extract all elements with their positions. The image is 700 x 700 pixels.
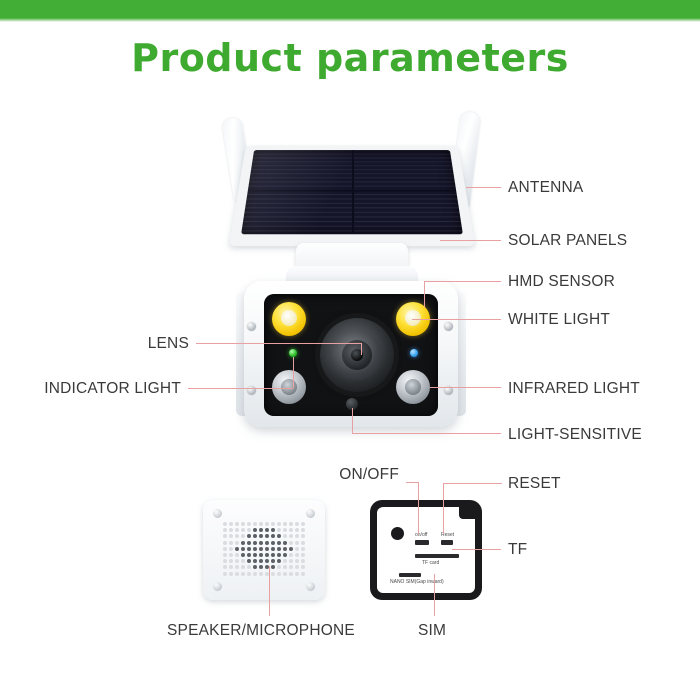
label-on-off: ON/OFF: [275, 466, 399, 484]
speaker-hole: [289, 541, 293, 545]
leader-lens: [196, 343, 361, 344]
leader-reset: [443, 483, 502, 484]
leader-tf: [452, 549, 501, 550]
speaker-hole: [277, 559, 281, 563]
rear-onoff-text: on/off: [415, 532, 427, 538]
infrared-led-left: [272, 370, 306, 404]
speaker-hole: [289, 572, 293, 576]
speaker-hole: [259, 547, 263, 551]
speaker-hole: [253, 553, 257, 557]
speaker-hole: [247, 565, 251, 569]
speaker-hole: [247, 528, 251, 532]
label-reset: RESET: [508, 475, 561, 493]
leader-on-off-drop: [418, 482, 419, 534]
speaker-hole: [277, 553, 281, 557]
leader-light-sensitive: [352, 433, 501, 434]
speaker-hole: [259, 559, 263, 563]
speaker-hole: [283, 565, 287, 569]
sim-card-slot[interactable]: [399, 573, 421, 577]
speaker-hole: [241, 522, 245, 526]
speaker-hole: [271, 572, 275, 576]
speaker-hole: [247, 534, 251, 538]
speaker-hole: [229, 572, 233, 576]
speaker-hole: [253, 534, 257, 538]
speaker-hole: [271, 559, 275, 563]
speaker-hole: [241, 553, 245, 557]
rear-panel-notch: [459, 507, 475, 519]
speaker-hole: [295, 559, 299, 563]
speaker-hole: [229, 553, 233, 557]
speaker-hole: [295, 534, 299, 538]
speaker-hole: [265, 559, 269, 563]
speaker-hole: [229, 565, 233, 569]
rear-tfcard-text: TF card: [422, 560, 439, 566]
speaker-screw-top-left: [213, 509, 222, 518]
speaker-hole: [241, 528, 245, 532]
infrared-led-right: [396, 370, 430, 404]
speaker-hole: [265, 547, 269, 551]
speaker-hole: [247, 541, 251, 545]
speaker-hole: [241, 534, 245, 538]
speaker-screw-bottom-right: [306, 582, 315, 591]
leader-speaker-drop: [269, 566, 270, 616]
speaker-hole: [295, 528, 299, 532]
speaker-hole: [295, 553, 299, 557]
speaker-hole: [229, 559, 233, 563]
label-tf: TF: [508, 541, 527, 559]
speaker-hole: [259, 522, 263, 526]
camera-lens: [320, 318, 394, 392]
speaker-hole: [259, 553, 263, 557]
speaker-hole: [265, 541, 269, 545]
leader-hmd-sensor-drop: [424, 281, 425, 307]
speaker-hole: [301, 547, 305, 551]
leader-indicator-light-rise: [293, 357, 294, 388]
speaker-hole: [223, 547, 227, 551]
speaker-hole: [271, 534, 275, 538]
leader-infrared-light: [430, 387, 501, 388]
speaker-hole: [277, 528, 281, 532]
solar-panel: [238, 133, 466, 251]
label-solar-panels: SOLAR PANELS: [508, 232, 627, 250]
speaker-hole: [259, 565, 263, 569]
speaker-hole: [265, 528, 269, 532]
speaker-hole: [271, 547, 275, 551]
speaker-hole: [253, 522, 257, 526]
label-sim: SIM: [418, 622, 446, 640]
speaker-hole: [271, 541, 275, 545]
speaker-hole: [241, 572, 245, 576]
speaker-hole: [235, 528, 239, 532]
speaker-hole: [283, 541, 287, 545]
speaker-hole: [241, 559, 245, 563]
speaker-hole: [223, 565, 227, 569]
speaker-hole: [277, 572, 281, 576]
speaker-hole: [289, 565, 293, 569]
speaker-hole: [259, 572, 263, 576]
speaker-hole: [235, 572, 239, 576]
label-antenna: ANTENNA: [508, 179, 583, 197]
leader-lens-drop: [361, 343, 362, 355]
speaker-hole: [271, 528, 275, 532]
speaker-hole: [253, 541, 257, 545]
leader-sim-drop: [434, 574, 435, 616]
speaker-hole: [301, 534, 305, 538]
speaker-hole: [223, 553, 227, 557]
speaker-hole: [283, 528, 287, 532]
speaker-hole: [301, 553, 305, 557]
speaker-hole: [265, 534, 269, 538]
speaker-hole: [283, 522, 287, 526]
speaker-hole: [277, 541, 281, 545]
speaker-hole: [295, 547, 299, 551]
speaker-hole: [283, 534, 287, 538]
speaker-hole: [241, 565, 245, 569]
speaker-hole: [229, 541, 233, 545]
speaker-hole: [301, 572, 305, 576]
leader-antenna: [466, 187, 501, 188]
speaker-hole: [229, 534, 233, 538]
speaker-hole: [259, 534, 263, 538]
speaker-hole: [301, 559, 305, 563]
top-green-bar: [0, 0, 700, 18]
speaker-hole: [235, 534, 239, 538]
speaker-hole: [271, 522, 275, 526]
speaker-hole: [223, 534, 227, 538]
speaker-microphone-panel: [203, 500, 325, 600]
solar-panel-cells: [241, 150, 463, 234]
speaker-hole: [223, 528, 227, 532]
leader-hmd-sensor: [424, 281, 501, 282]
speaker-hole: [289, 534, 293, 538]
speaker-hole: [277, 565, 281, 569]
speaker-hole: [241, 541, 245, 545]
speaker-hole: [229, 547, 233, 551]
speaker-hole: [289, 547, 293, 551]
label-indicator-light: INDICATOR LIGHT: [11, 380, 181, 398]
speaker-hole: [229, 528, 233, 532]
speaker-hole: [277, 534, 281, 538]
speaker-hole: [223, 572, 227, 576]
speaker-hole: [253, 559, 257, 563]
rear-nanosim-text: NANO SIM(Gap inward): [390, 579, 444, 585]
label-light-sensitive: LIGHT-SENSITIVE: [508, 426, 642, 444]
speaker-hole: [289, 522, 293, 526]
reset-button[interactable]: [441, 540, 453, 545]
speaker-hole: [259, 528, 263, 532]
speaker-hole: [223, 559, 227, 563]
leader-on-off: [406, 482, 419, 483]
speaker-hole: [235, 565, 239, 569]
label-infrared-light: INFRARED LIGHT: [508, 380, 640, 398]
speaker-hole: [283, 553, 287, 557]
label-lens: LENS: [61, 335, 189, 353]
speaker-hole: [301, 541, 305, 545]
speaker-hole: [247, 553, 251, 557]
speaker-hole: [235, 522, 239, 526]
speaker-hole: [259, 541, 263, 545]
speaker-hole: [301, 522, 305, 526]
speaker-hole: [295, 541, 299, 545]
speaker-hole: [253, 528, 257, 532]
speaker-hole: [277, 547, 281, 551]
onoff-switch: [415, 540, 429, 545]
speaker-hole: [283, 572, 287, 576]
speaker-hole: [241, 547, 245, 551]
speaker-hole: [289, 553, 293, 557]
label-speaker-microphone: SPEAKER/MICROPHONE: [167, 622, 355, 640]
body-screw-top-left: [247, 322, 256, 331]
speaker-screw-bottom-left: [213, 582, 222, 591]
white-light-led-left: [272, 302, 306, 336]
speaker-hole: [289, 528, 293, 532]
speaker-hole: [277, 522, 281, 526]
speaker-hole: [235, 547, 239, 551]
indicator-led-green: [289, 349, 297, 357]
body-screw-top-right: [444, 322, 453, 331]
speaker-hole: [295, 522, 299, 526]
page-title: Product parameters: [0, 36, 700, 80]
speaker-hole: [301, 565, 305, 569]
speaker-hole: [295, 572, 299, 576]
speaker-grille: [223, 522, 307, 578]
indicator-led-blue: [410, 349, 418, 357]
speaker-hole: [253, 547, 257, 551]
speaker-hole: [247, 547, 251, 551]
speaker-hole: [235, 559, 239, 563]
solar-gloss: [241, 150, 463, 234]
speaker-hole: [223, 541, 227, 545]
speaker-hole: [247, 522, 251, 526]
label-white-light: WHITE LIGHT: [508, 311, 610, 329]
leader-indicator-light: [188, 388, 293, 389]
speaker-hole: [223, 522, 227, 526]
product-parameters-diagram: Product parameters: [0, 0, 700, 700]
speaker-hole: [235, 541, 239, 545]
speaker-hole: [247, 572, 251, 576]
leader-white-light: [412, 319, 501, 320]
label-hmd-sensor: HMD SENSOR: [508, 273, 615, 291]
speaker-hole: [253, 572, 257, 576]
speaker-screw-top-right: [306, 509, 315, 518]
speaker-hole: [265, 522, 269, 526]
rear-panel-port: [391, 527, 404, 540]
leader-solar-panels: [440, 240, 501, 241]
leader-reset-drop: [443, 483, 444, 534]
speaker-hole: [271, 565, 275, 569]
speaker-hole: [247, 559, 251, 563]
speaker-hole: [229, 522, 233, 526]
leader-light-sensitive-drop: [352, 408, 353, 433]
speaker-hole: [295, 565, 299, 569]
rear-panel-inner: on/off Reset TF card NANO SIM(Gap inward…: [377, 507, 475, 593]
speaker-hole: [289, 559, 293, 563]
tf-card-slot[interactable]: [415, 554, 459, 558]
speaker-hole: [283, 547, 287, 551]
speaker-hole: [283, 559, 287, 563]
speaker-hole: [271, 553, 275, 557]
speaker-hole: [235, 553, 239, 557]
speaker-hole: [265, 553, 269, 557]
speaker-hole: [253, 565, 257, 569]
speaker-hole: [301, 528, 305, 532]
rear-panel: on/off Reset TF card NANO SIM(Gap inward…: [370, 500, 482, 600]
